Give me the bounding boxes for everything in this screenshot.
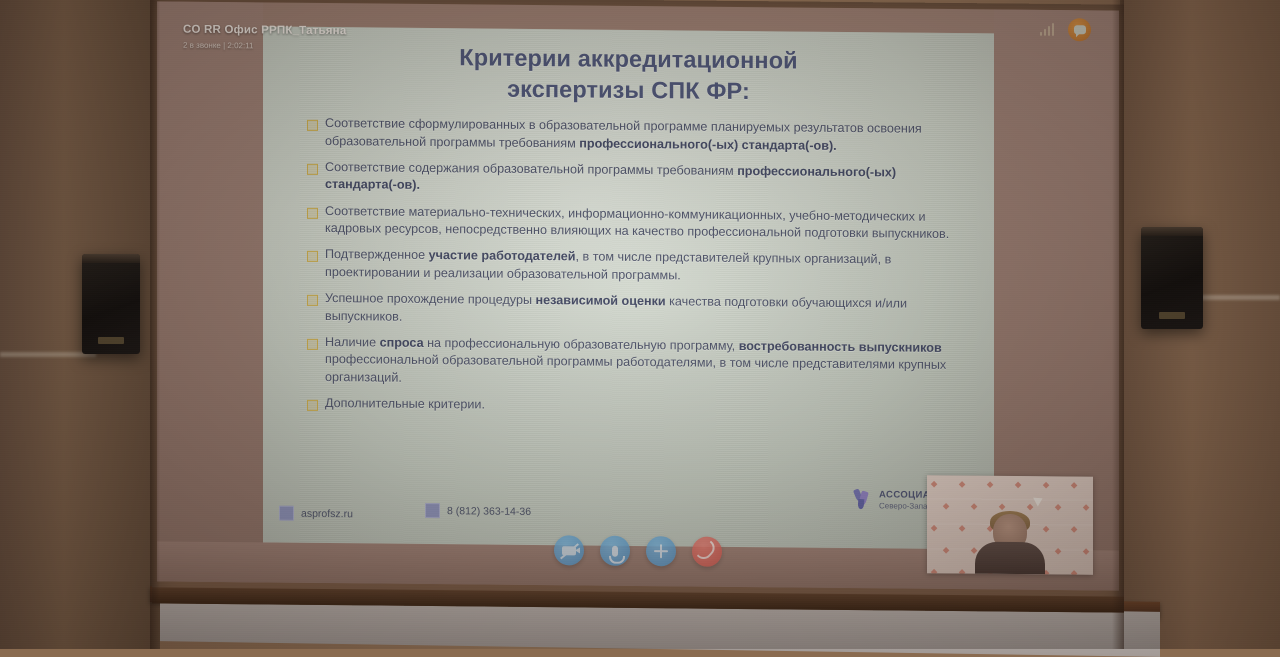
website-text: asprofsz.ru [301, 507, 353, 519]
shared-presentation-slide: Критерии аккредитационной экспертизы СПК… [263, 26, 994, 549]
add-participant-button[interactable] [646, 536, 676, 566]
backdrop-logo-mark: ◆ [959, 524, 965, 533]
backdrop-logo-mark: ◆ [1071, 481, 1077, 490]
backdrop-logo-mark: ◆ [1015, 480, 1021, 489]
chat-bubble-icon[interactable] [1068, 18, 1091, 41]
meeting-info-overlay: CO RR Офис РРПК_Татьяна 2 в звонке | 2:0… [183, 24, 358, 52]
slide-bullet-item: Успешное прохождение процедуры независим… [307, 290, 966, 332]
slide-bullet-item: Наличие спроса на профессиональную образ… [307, 334, 966, 393]
slide-bullet-list: Соответствие сформулированных в образова… [263, 102, 994, 419]
association-bird-icon [852, 488, 872, 510]
checkbox-marker-icon [307, 207, 318, 218]
backdrop-logo-mark: ◆ [943, 545, 949, 554]
meeting-title: CO RR Офис РРПК_Татьяна [183, 24, 358, 38]
camera-off-icon [562, 546, 576, 555]
slide-bullet-item: Дополнительные критерии. [307, 395, 966, 419]
signal-strength-icon [1040, 23, 1055, 36]
wall-trim-right [1196, 295, 1280, 300]
speaker-top [82, 254, 140, 263]
microphone-icon [612, 545, 618, 556]
backdrop-logo-mark: ◆ [971, 502, 977, 511]
speaker-top [1141, 227, 1203, 236]
letterbox-left [157, 1, 263, 582]
speaker-badge [98, 337, 124, 344]
backdrop-logo-mark: ◆ [959, 480, 965, 489]
phone-icon [425, 503, 440, 518]
slide-bullet-text: Успешное прохождение процедуры независим… [325, 290, 966, 331]
participant-figure [973, 514, 1047, 575]
slide-bullet-text: Дополнительные критерии. [325, 395, 485, 414]
backdrop-logo-mark: ◆ [1071, 525, 1077, 534]
backdrop-logo-mark: ◆ [1043, 480, 1049, 489]
slide-bullet-text: Соответствие содержания образовательной … [325, 159, 966, 200]
checkbox-marker-icon [307, 164, 318, 175]
backdrop-logo-mark: ◆ [1083, 503, 1089, 512]
backdrop-logo-mark: ◆ [943, 501, 949, 510]
slide-bullet-item: Соответствие материально-технических, ин… [307, 202, 966, 244]
backdrop-logo-mark: ◆ [1055, 502, 1061, 511]
slide-bullet-text: Подтвержденное участие работодателей, в … [325, 246, 966, 287]
call-control-bar [554, 535, 722, 567]
wall-speaker-left [82, 254, 140, 354]
backdrop-logo-mark: ◆ [1071, 569, 1077, 575]
wall-speaker-right [1141, 227, 1203, 329]
slide-bullet-text: Соответствие материально-технических, ин… [325, 203, 966, 244]
backdrop-logo-mark: ◆ [1027, 502, 1033, 511]
status-icon-group [1040, 18, 1092, 41]
checkbox-marker-icon [307, 339, 318, 350]
backdrop-logo-mark: ◆ [1083, 547, 1089, 556]
globe-icon [279, 506, 294, 521]
slide-bullet-item: Соответствие сформулированных в образова… [307, 115, 966, 157]
participant-body [975, 542, 1045, 575]
slide-title: Критерии аккредитационной экспертизы СПК… [263, 26, 994, 109]
wall-edge-right [1112, 0, 1124, 649]
conference-room-photo: CO RR Офис РРПК_Татьяна 2 в звонке | 2:0… [0, 0, 1280, 649]
speaker-badge [1159, 312, 1185, 319]
camera-off-button[interactable] [554, 535, 584, 565]
backdrop-logo-mark: ◆ [1055, 546, 1061, 555]
backdrop-logo-mark: ◆ [931, 523, 937, 532]
plus-icon [654, 550, 668, 553]
slide-bullet-text: Наличие спроса на профессиональную образ… [325, 334, 966, 393]
microphone-button[interactable] [600, 536, 630, 566]
checkbox-marker-icon [307, 120, 318, 131]
checkbox-marker-icon [307, 251, 318, 262]
participant-video-thumbnail[interactable]: ◆◆◆◆◆◆◆◆◆◆◆◆◆◆◆◆◆◆◆◆◆◆◆◆◆◆◆◆◆◆ [927, 475, 1093, 574]
slide-bullet-text: Соответствие сформулированных в образова… [325, 115, 966, 156]
slide-bullet-item: Соответствие содержания образовательной … [307, 159, 966, 201]
footer-website: asprofsz.ru [279, 506, 353, 522]
backdrop-logo-mark: ◆ [931, 479, 937, 488]
meeting-status: 2 в звонке | 2:02:11 [183, 41, 358, 52]
backdrop-logo-mark: ◆ [987, 480, 993, 489]
footer-phone: 8 (812) 363-14-36 [425, 503, 531, 519]
checkbox-marker-icon [307, 295, 318, 306]
wall-edge-left [150, 0, 160, 649]
slide-bullet-item: Подтвержденное участие работодателей, в … [307, 246, 966, 288]
hang-up-button[interactable] [692, 537, 722, 567]
phone-text: 8 (812) 363-14-36 [447, 505, 531, 518]
backdrop-logo-mark: ◆ [999, 502, 1005, 511]
hang-up-icon [696, 541, 718, 563]
checkbox-marker-icon [307, 400, 318, 411]
